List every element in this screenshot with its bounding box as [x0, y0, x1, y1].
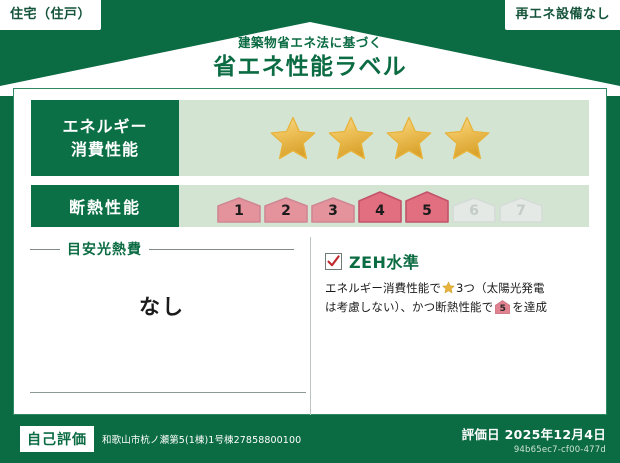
label-title-main: 省エネ性能ラベル	[0, 53, 620, 82]
energy-performance-label: 建築物省エネ法に基づく 省エネ性能ラベル 住宅（住戸） 再エネ設備なし エネルギ…	[0, 0, 620, 463]
star-rating	[269, 115, 491, 161]
grade-badge-number: 1	[217, 203, 261, 219]
zeh-desc-part2: は考慮しない）、かつ断熱性能で	[325, 300, 493, 314]
building-type-tag: 住宅（住戸）	[0, 0, 101, 30]
utility-cost-section: 目安光熱費 なし	[14, 237, 310, 415]
energy-performance-value	[179, 100, 589, 176]
grade-badge-number: 6	[452, 203, 496, 219]
label-title-sub: 建築物省エネ法に基づく	[0, 36, 620, 50]
zeh-desc-part1: エネルギー消費性能で	[325, 281, 441, 295]
insulation-grade-badge: 4	[358, 189, 402, 223]
grade-badge-number: 7	[499, 203, 543, 219]
insulation-performance-row: 断熱性能 1234567	[31, 185, 589, 227]
zeh-desc-stars: 3つ（太陽光発電	[456, 281, 545, 295]
evaluation-meta: 評価日 2025年12月4日 94b65ec7-cf00-477d	[462, 424, 606, 455]
evaluation-date: 評価日 2025年12月4日	[462, 424, 606, 443]
renewable-energy-tag: 再エネ設備なし	[505, 0, 620, 30]
grade-badge-number: 4	[358, 203, 402, 219]
self-evaluation-group: 自己評価 和歌山市杭ノ瀬第5(1棟)1号棟27858800100	[20, 426, 301, 452]
label-title: 建築物省エネ法に基づく 省エネ性能ラベル	[0, 36, 620, 82]
heading-rule-right	[149, 249, 294, 250]
property-address: 和歌山市杭ノ瀬第5(1棟)1号棟27858800100	[102, 432, 301, 446]
inline-grade-badge: 5	[495, 300, 510, 314]
zeh-heading: ZEH水準	[325, 249, 590, 273]
energy-label-line1: エネルギー	[62, 117, 147, 136]
insulation-grade-badge: 6	[452, 189, 496, 223]
insulation-grade-badge: 1	[217, 189, 261, 223]
utility-cost-heading: 目安光熱費	[30, 239, 294, 259]
label-footer: 自己評価 和歌山市杭ノ瀬第5(1棟)1号棟27858800100 評価日 202…	[0, 415, 620, 463]
grade-badge-number: 3	[311, 203, 355, 219]
star-icon	[443, 115, 491, 161]
insulation-grade-scale: 1234567	[217, 189, 543, 223]
grade-badge-number: 2	[264, 203, 308, 219]
check-icon	[326, 254, 341, 269]
label-card: エネルギー 消費性能 断熱性能 1234567 目安光熱費	[13, 88, 607, 415]
utility-cost-value: なし	[30, 291, 294, 321]
utility-cost-bottom-rule	[30, 392, 306, 393]
zeh-description: エネルギー消費性能で 3つ（太陽光発電 は考慮しない）、かつ断熱性能で 5 を達…	[325, 279, 590, 316]
star-icon	[269, 115, 317, 161]
heading-rule-left	[30, 249, 60, 250]
zeh-desc-part3: を達成	[512, 300, 547, 314]
insulation-grade-badge: 3	[311, 189, 355, 223]
insulation-performance-value: 1234567	[179, 185, 589, 227]
star-icon	[327, 115, 375, 161]
energy-performance-label: エネルギー 消費性能	[31, 100, 179, 176]
inline-badge-number: 5	[495, 305, 510, 314]
insulation-grade-badge: 2	[264, 189, 308, 223]
insulation-grade-badge: 5	[405, 189, 449, 223]
star-icon	[385, 115, 433, 161]
utility-cost-title: 目安光熱費	[67, 239, 142, 259]
energy-performance-row: エネルギー 消費性能	[31, 100, 589, 176]
lower-section: 目安光熱費 なし ZEH水準 エネルギー消費性能で	[14, 237, 606, 415]
inline-star-icon	[442, 281, 455, 294]
insulation-performance-label: 断熱性能	[31, 185, 179, 227]
grade-badge-number: 5	[405, 203, 449, 219]
zeh-section: ZEH水準 エネルギー消費性能で 3つ（太陽光発電 は考慮しない）、かつ断熱性能…	[310, 237, 606, 415]
self-evaluation-badge: 自己評価	[20, 426, 94, 452]
zeh-checkbox[interactable]	[325, 253, 342, 270]
evaluation-id: 94b65ec7-cf00-477d	[462, 445, 606, 455]
insulation-grade-badge: 7	[499, 189, 543, 223]
energy-label-line2: 消費性能	[71, 140, 139, 159]
zeh-title: ZEH水準	[349, 249, 419, 273]
